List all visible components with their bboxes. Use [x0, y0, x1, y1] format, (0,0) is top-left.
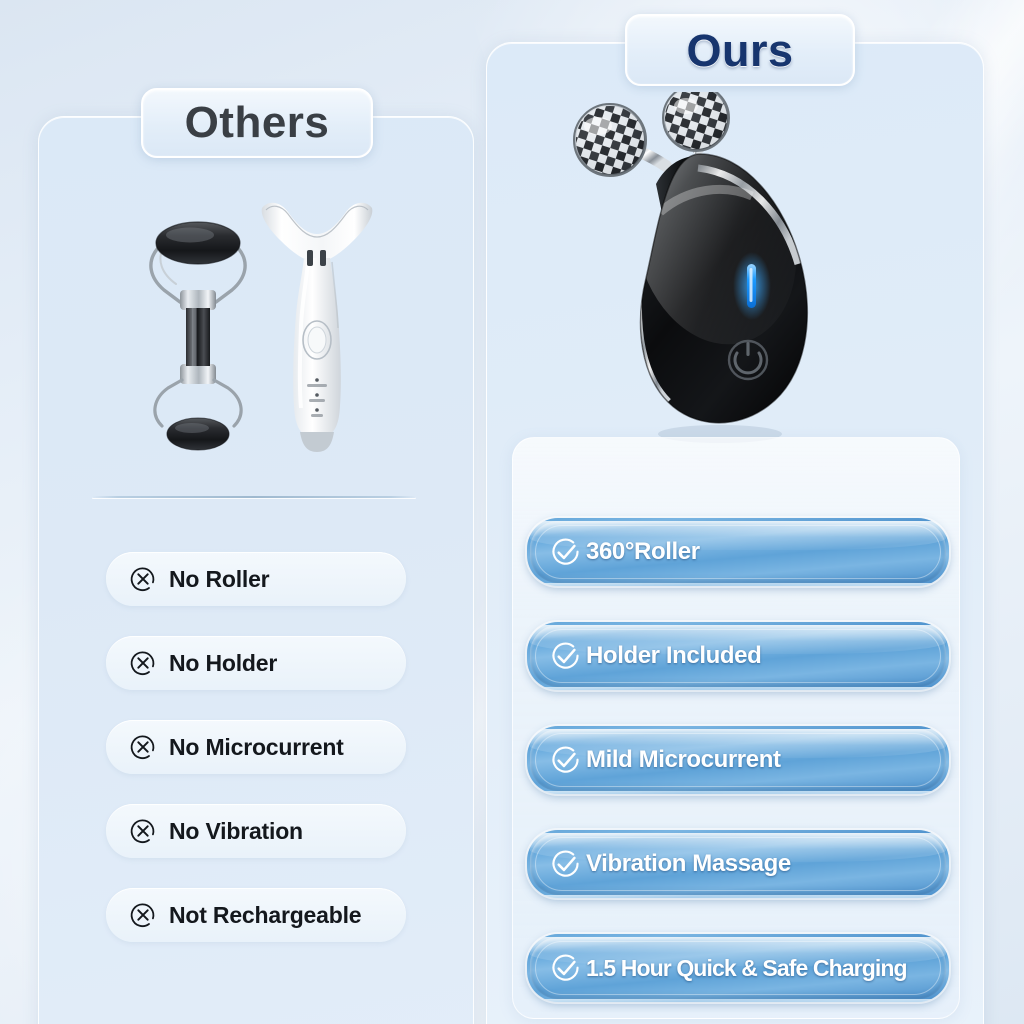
section-divider: [92, 496, 416, 498]
others-feature-list: No Roller No Holder No Microcurrent No V…: [106, 552, 406, 972]
ours-badge: Ours: [625, 14, 855, 86]
x-circle-icon: [128, 816, 158, 846]
list-item: Vibration Massage: [527, 830, 949, 898]
list-item: Not Rechargeable: [106, 888, 406, 942]
list-item-label: Holder Included: [586, 642, 761, 670]
list-item: No Roller: [106, 552, 406, 606]
list-item: 1.5 Hour Quick & Safe Charging: [527, 934, 949, 1002]
check-circle-icon: [549, 536, 582, 569]
list-item-label: Not Rechargeable: [169, 902, 361, 929]
list-item: Holder Included: [527, 622, 949, 690]
comparison-infographic: No Roller No Holder No Microcurrent No V…: [0, 0, 1024, 1024]
x-circle-icon: [128, 564, 158, 594]
check-circle-icon: [549, 640, 582, 673]
list-item-label: No Microcurrent: [169, 734, 344, 761]
check-circle-icon: [549, 952, 582, 985]
list-item: 360°Roller: [527, 518, 949, 586]
list-item: No Vibration: [106, 804, 406, 858]
neck-device-image: [258, 192, 376, 456]
list-item-label: No Roller: [169, 566, 269, 593]
list-item: No Holder: [106, 636, 406, 690]
list-item-label: 1.5 Hour Quick & Safe Charging: [586, 955, 907, 982]
others-badge-label: Others: [185, 101, 330, 145]
list-item: Mild Microcurrent: [527, 726, 949, 794]
list-item-label: Vibration Massage: [586, 850, 791, 878]
list-item-label: Mild Microcurrent: [586, 746, 781, 774]
check-circle-icon: [549, 848, 582, 881]
others-badge: Others: [141, 88, 373, 158]
x-circle-icon: [128, 732, 158, 762]
x-circle-icon: [128, 648, 158, 678]
check-circle-icon: [549, 744, 582, 777]
list-item-label: No Holder: [169, 650, 277, 677]
ours-feature-list: 360°Roller Holder Included Mild Microcur…: [527, 518, 949, 1024]
jade-roller-image: [140, 212, 256, 464]
ours-badge-label: Ours: [686, 28, 793, 73]
x-circle-icon: [128, 900, 158, 930]
ours-device-image: [548, 92, 840, 448]
list-item-label: No Vibration: [169, 818, 303, 845]
list-item: No Microcurrent: [106, 720, 406, 774]
list-item-label: 360°Roller: [586, 538, 700, 566]
